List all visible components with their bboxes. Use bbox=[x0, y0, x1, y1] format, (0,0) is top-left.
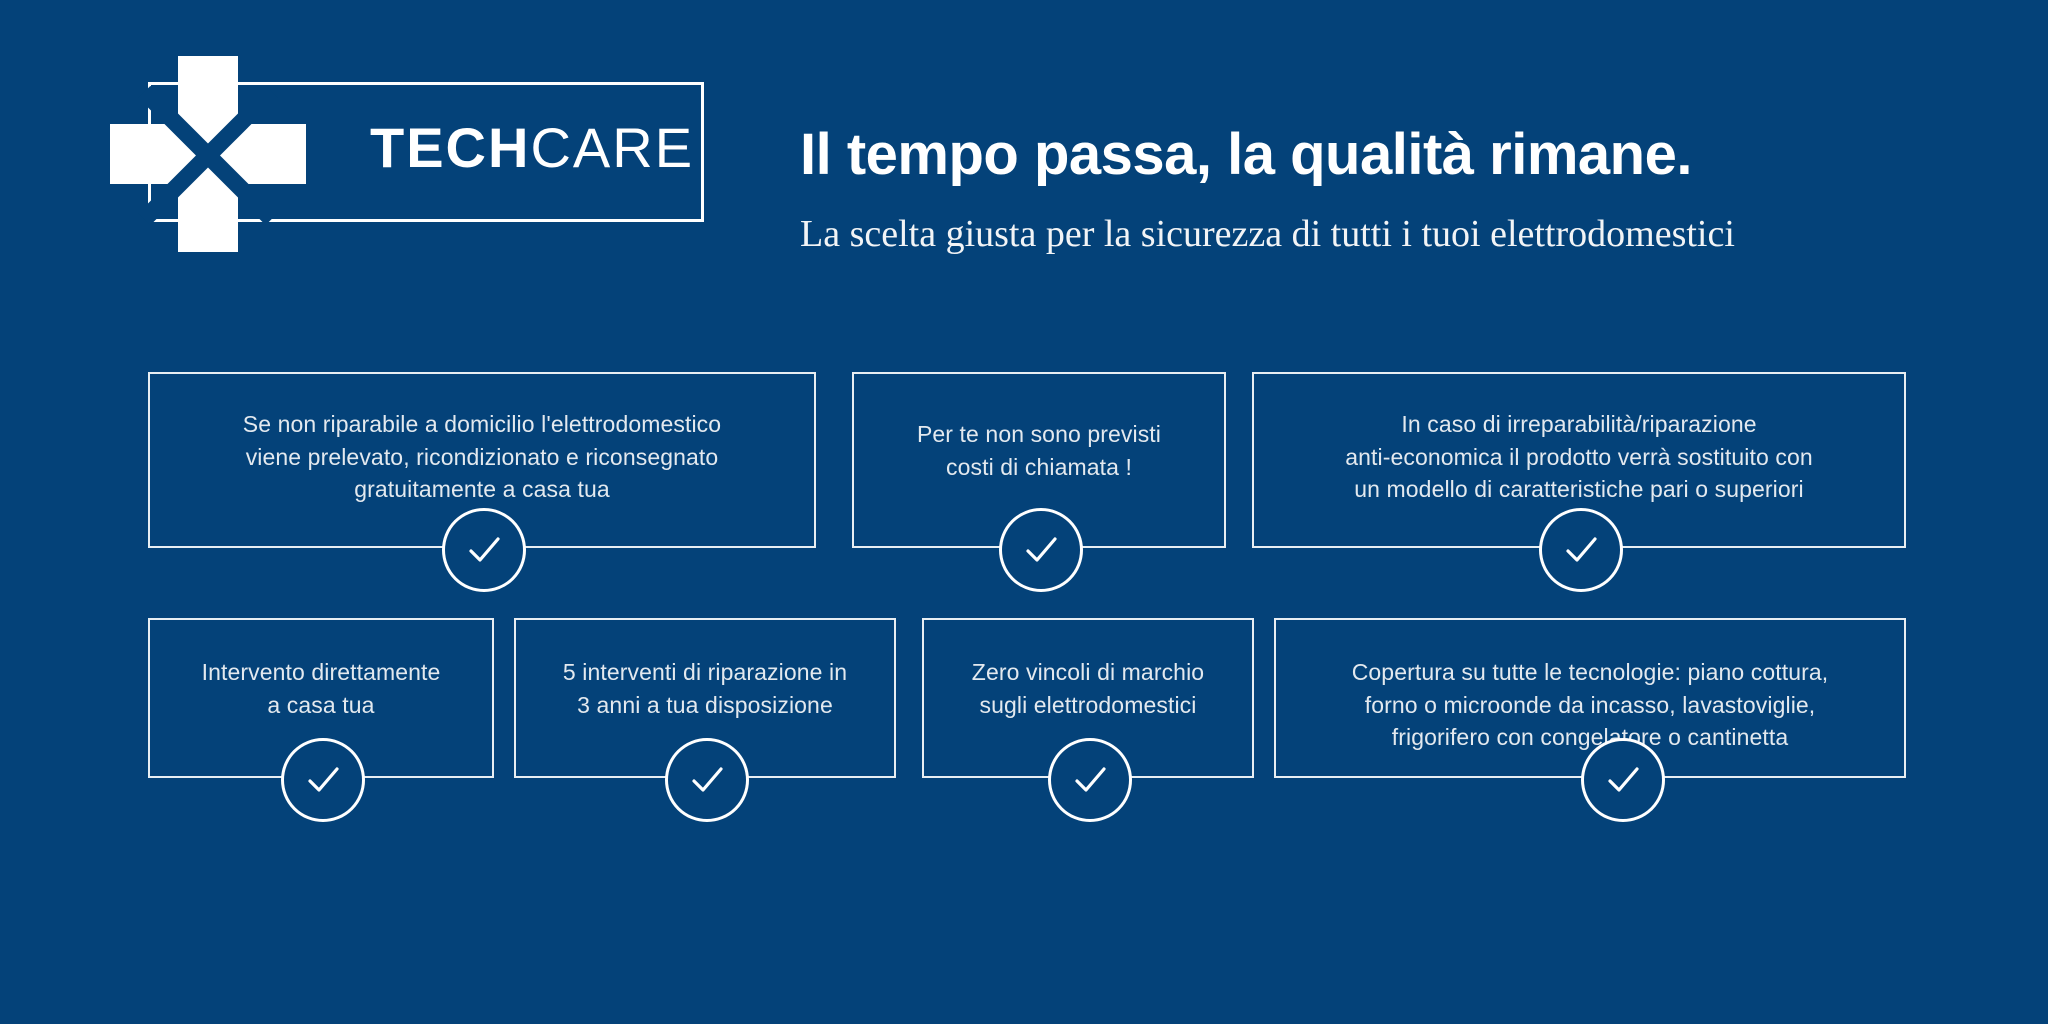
promo-banner: TECHCARE Il tempo passa, la qualità rima… bbox=[0, 0, 2048, 1024]
brand-wordmark: TECHCARE bbox=[370, 120, 694, 176]
check-circle-icon bbox=[999, 508, 1083, 592]
page-subtitle: La scelta giusta per la sicurezza di tut… bbox=[800, 214, 1735, 256]
benefit-card: Copertura su tutte le tecnologie: piano … bbox=[1274, 618, 1906, 778]
benefit-card: Se non riparabile a domicilio l'elettrod… bbox=[148, 372, 816, 548]
benefit-card: Intervento direttamente a casa tua bbox=[148, 618, 494, 778]
check-circle-icon bbox=[1539, 508, 1623, 592]
benefit-card-text: 5 interventi di riparazione in 3 anni a … bbox=[547, 620, 863, 721]
check-circle-icon bbox=[1581, 738, 1665, 822]
benefit-card: 5 interventi di riparazione in 3 anni a … bbox=[514, 618, 896, 778]
wordmark-tech: TECH bbox=[370, 116, 530, 179]
check-circle-icon bbox=[281, 738, 365, 822]
benefit-card-text: In caso di irreparabilità/riparazione an… bbox=[1329, 374, 1829, 506]
benefit-card-text: Per te non sono previsti costi di chiama… bbox=[901, 374, 1177, 483]
benefit-card: Zero vincoli di marchio sugli elettrodom… bbox=[922, 618, 1254, 778]
check-circle-icon bbox=[665, 738, 749, 822]
brand-logo[interactable]: TECHCARE bbox=[148, 82, 708, 222]
techcare-cross-x-icon bbox=[110, 56, 306, 252]
check-circle-icon bbox=[1048, 738, 1132, 822]
wordmark-care: CARE bbox=[530, 116, 694, 179]
benefit-card-text: Intervento direttamente a casa tua bbox=[186, 620, 457, 721]
benefit-card-text: Se non riparabile a domicilio l'elettrod… bbox=[227, 374, 737, 506]
check-circle-icon bbox=[442, 508, 526, 592]
benefit-card: Per te non sono previsti costi di chiama… bbox=[852, 372, 1226, 548]
benefit-card-text: Copertura su tutte le tecnologie: piano … bbox=[1336, 620, 1845, 754]
benefit-card: In caso di irreparabilità/riparazione an… bbox=[1252, 372, 1906, 548]
page-title: Il tempo passa, la qualità rimane. bbox=[800, 126, 1692, 184]
benefit-card-text: Zero vincoli di marchio sugli elettrodom… bbox=[956, 620, 1220, 721]
header: TECHCARE Il tempo passa, la qualità rima… bbox=[0, 0, 2048, 330]
